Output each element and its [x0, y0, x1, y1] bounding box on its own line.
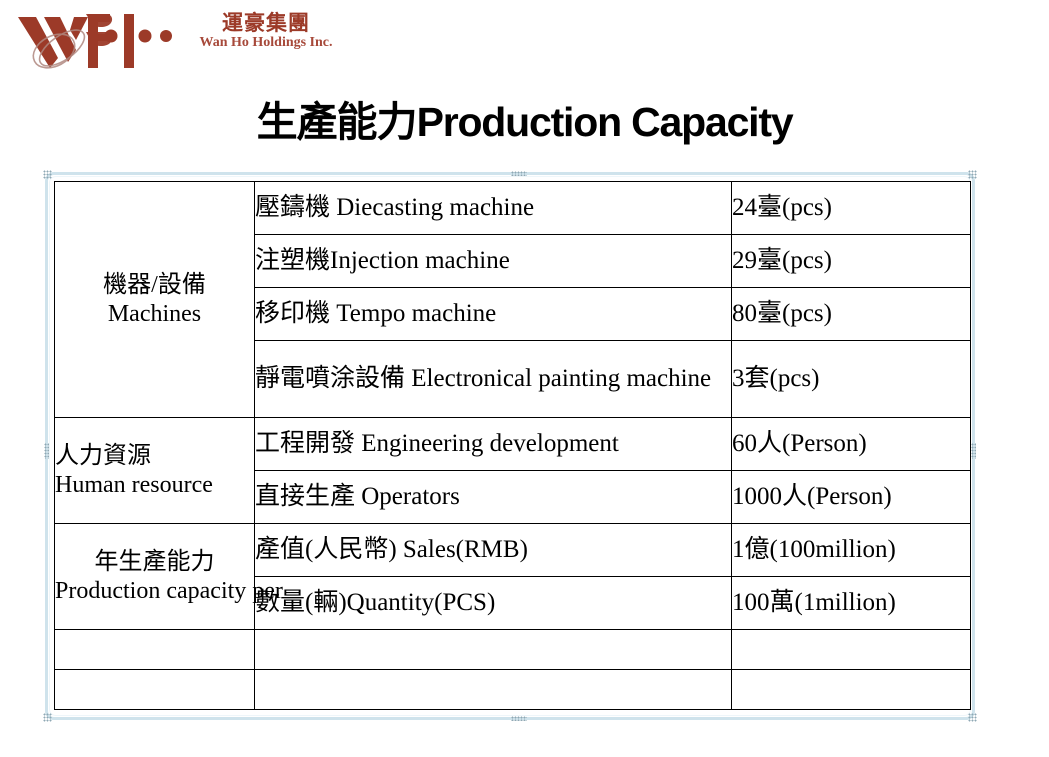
- value-cell[interactable]: 100萬(1million): [732, 577, 971, 630]
- resize-handle-bottom-left[interactable]: [43, 713, 52, 722]
- table-row-empty[interactable]: [55, 670, 971, 710]
- table-row[interactable]: 人力資源 Human resource 工程開發 Engineering dev…: [55, 418, 971, 471]
- value-cell[interactable]: 24臺(pcs): [732, 182, 971, 235]
- resize-handle-bottom-center[interactable]: [511, 716, 527, 721]
- empty-cell[interactable]: [255, 630, 732, 670]
- company-logo: 運豪集團 Wan Ho Holdings Inc.: [8, 4, 348, 78]
- item-cell[interactable]: 產值(人民幣) Sales(RMB): [255, 524, 732, 577]
- production-capacity-table[interactable]: 機器/設備 Machines 壓鑄機 Diecasting machine 24…: [54, 181, 971, 710]
- resize-handle-top-left[interactable]: [43, 170, 52, 179]
- empty-cell[interactable]: [55, 670, 255, 710]
- resize-handle-bottom-right[interactable]: [968, 713, 977, 722]
- item-cell[interactable]: 數量(輛)Quantity(PCS): [255, 577, 732, 630]
- value-cell[interactable]: 80臺(pcs): [732, 288, 971, 341]
- table-row[interactable]: 年生產能力 Production capacity per 產值(人民幣) Sa…: [55, 524, 971, 577]
- category-label-en: Production capacity per: [55, 577, 254, 605]
- resize-handle-top-center[interactable]: [511, 171, 527, 176]
- category-label-cn: 人力資源: [55, 442, 254, 470]
- table-selection-frame[interactable]: 機器/設備 Machines 壓鑄機 Diecasting machine 24…: [45, 172, 975, 720]
- category-cell-machines[interactable]: 機器/設備 Machines: [55, 182, 255, 418]
- category-label-cn: 年生產能力: [55, 548, 254, 576]
- page-title-en: Production Capacity: [417, 99, 793, 145]
- category-label-en: Machines: [55, 300, 254, 328]
- empty-cell[interactable]: [732, 630, 971, 670]
- resize-handle-middle-left[interactable]: [44, 443, 49, 459]
- value-cell[interactable]: 1億(100million): [732, 524, 971, 577]
- value-cell[interactable]: 1000人(Person): [732, 471, 971, 524]
- item-cell[interactable]: 壓鑄機 Diecasting machine: [255, 182, 732, 235]
- category-cell-human-resource[interactable]: 人力資源 Human resource: [55, 418, 255, 524]
- brand-name-cn: 運豪集團: [186, 12, 346, 34]
- empty-cell[interactable]: [255, 670, 732, 710]
- value-cell[interactable]: 29臺(pcs): [732, 235, 971, 288]
- item-cell[interactable]: 移印機 Tempo machine: [255, 288, 732, 341]
- item-cell[interactable]: 工程開發 Engineering development: [255, 418, 732, 471]
- empty-cell[interactable]: [55, 630, 255, 670]
- item-cell[interactable]: 直接生產 Operators: [255, 471, 732, 524]
- page-title-cn: 生產能力: [257, 98, 417, 146]
- resize-handle-middle-right[interactable]: [971, 443, 976, 459]
- value-cell[interactable]: 3套(pcs): [732, 341, 971, 418]
- page-title: 生產能力Production Capacity: [0, 88, 1049, 148]
- category-label-cn: 機器/設備: [55, 271, 254, 299]
- item-cell[interactable]: 注塑機Injection machine: [255, 235, 732, 288]
- value-cell[interactable]: 60人(Person): [732, 418, 971, 471]
- brand-name-en: Wan Ho Holdings Inc.: [186, 36, 346, 51]
- category-label-en: Human resource: [55, 471, 254, 499]
- table-row-empty[interactable]: [55, 630, 971, 670]
- brand-wordmark: 運豪集團 Wan Ho Holdings Inc.: [186, 12, 346, 51]
- wan-ho-logo-mark: [14, 6, 186, 72]
- category-cell-production-capacity[interactable]: 年生產能力 Production capacity per: [55, 524, 255, 630]
- item-cell[interactable]: 靜電噴涂設備 Electronical painting machine: [255, 341, 732, 418]
- resize-handle-top-right[interactable]: [968, 170, 977, 179]
- table-row[interactable]: 機器/設備 Machines 壓鑄機 Diecasting machine 24…: [55, 182, 971, 235]
- empty-cell[interactable]: [732, 670, 971, 710]
